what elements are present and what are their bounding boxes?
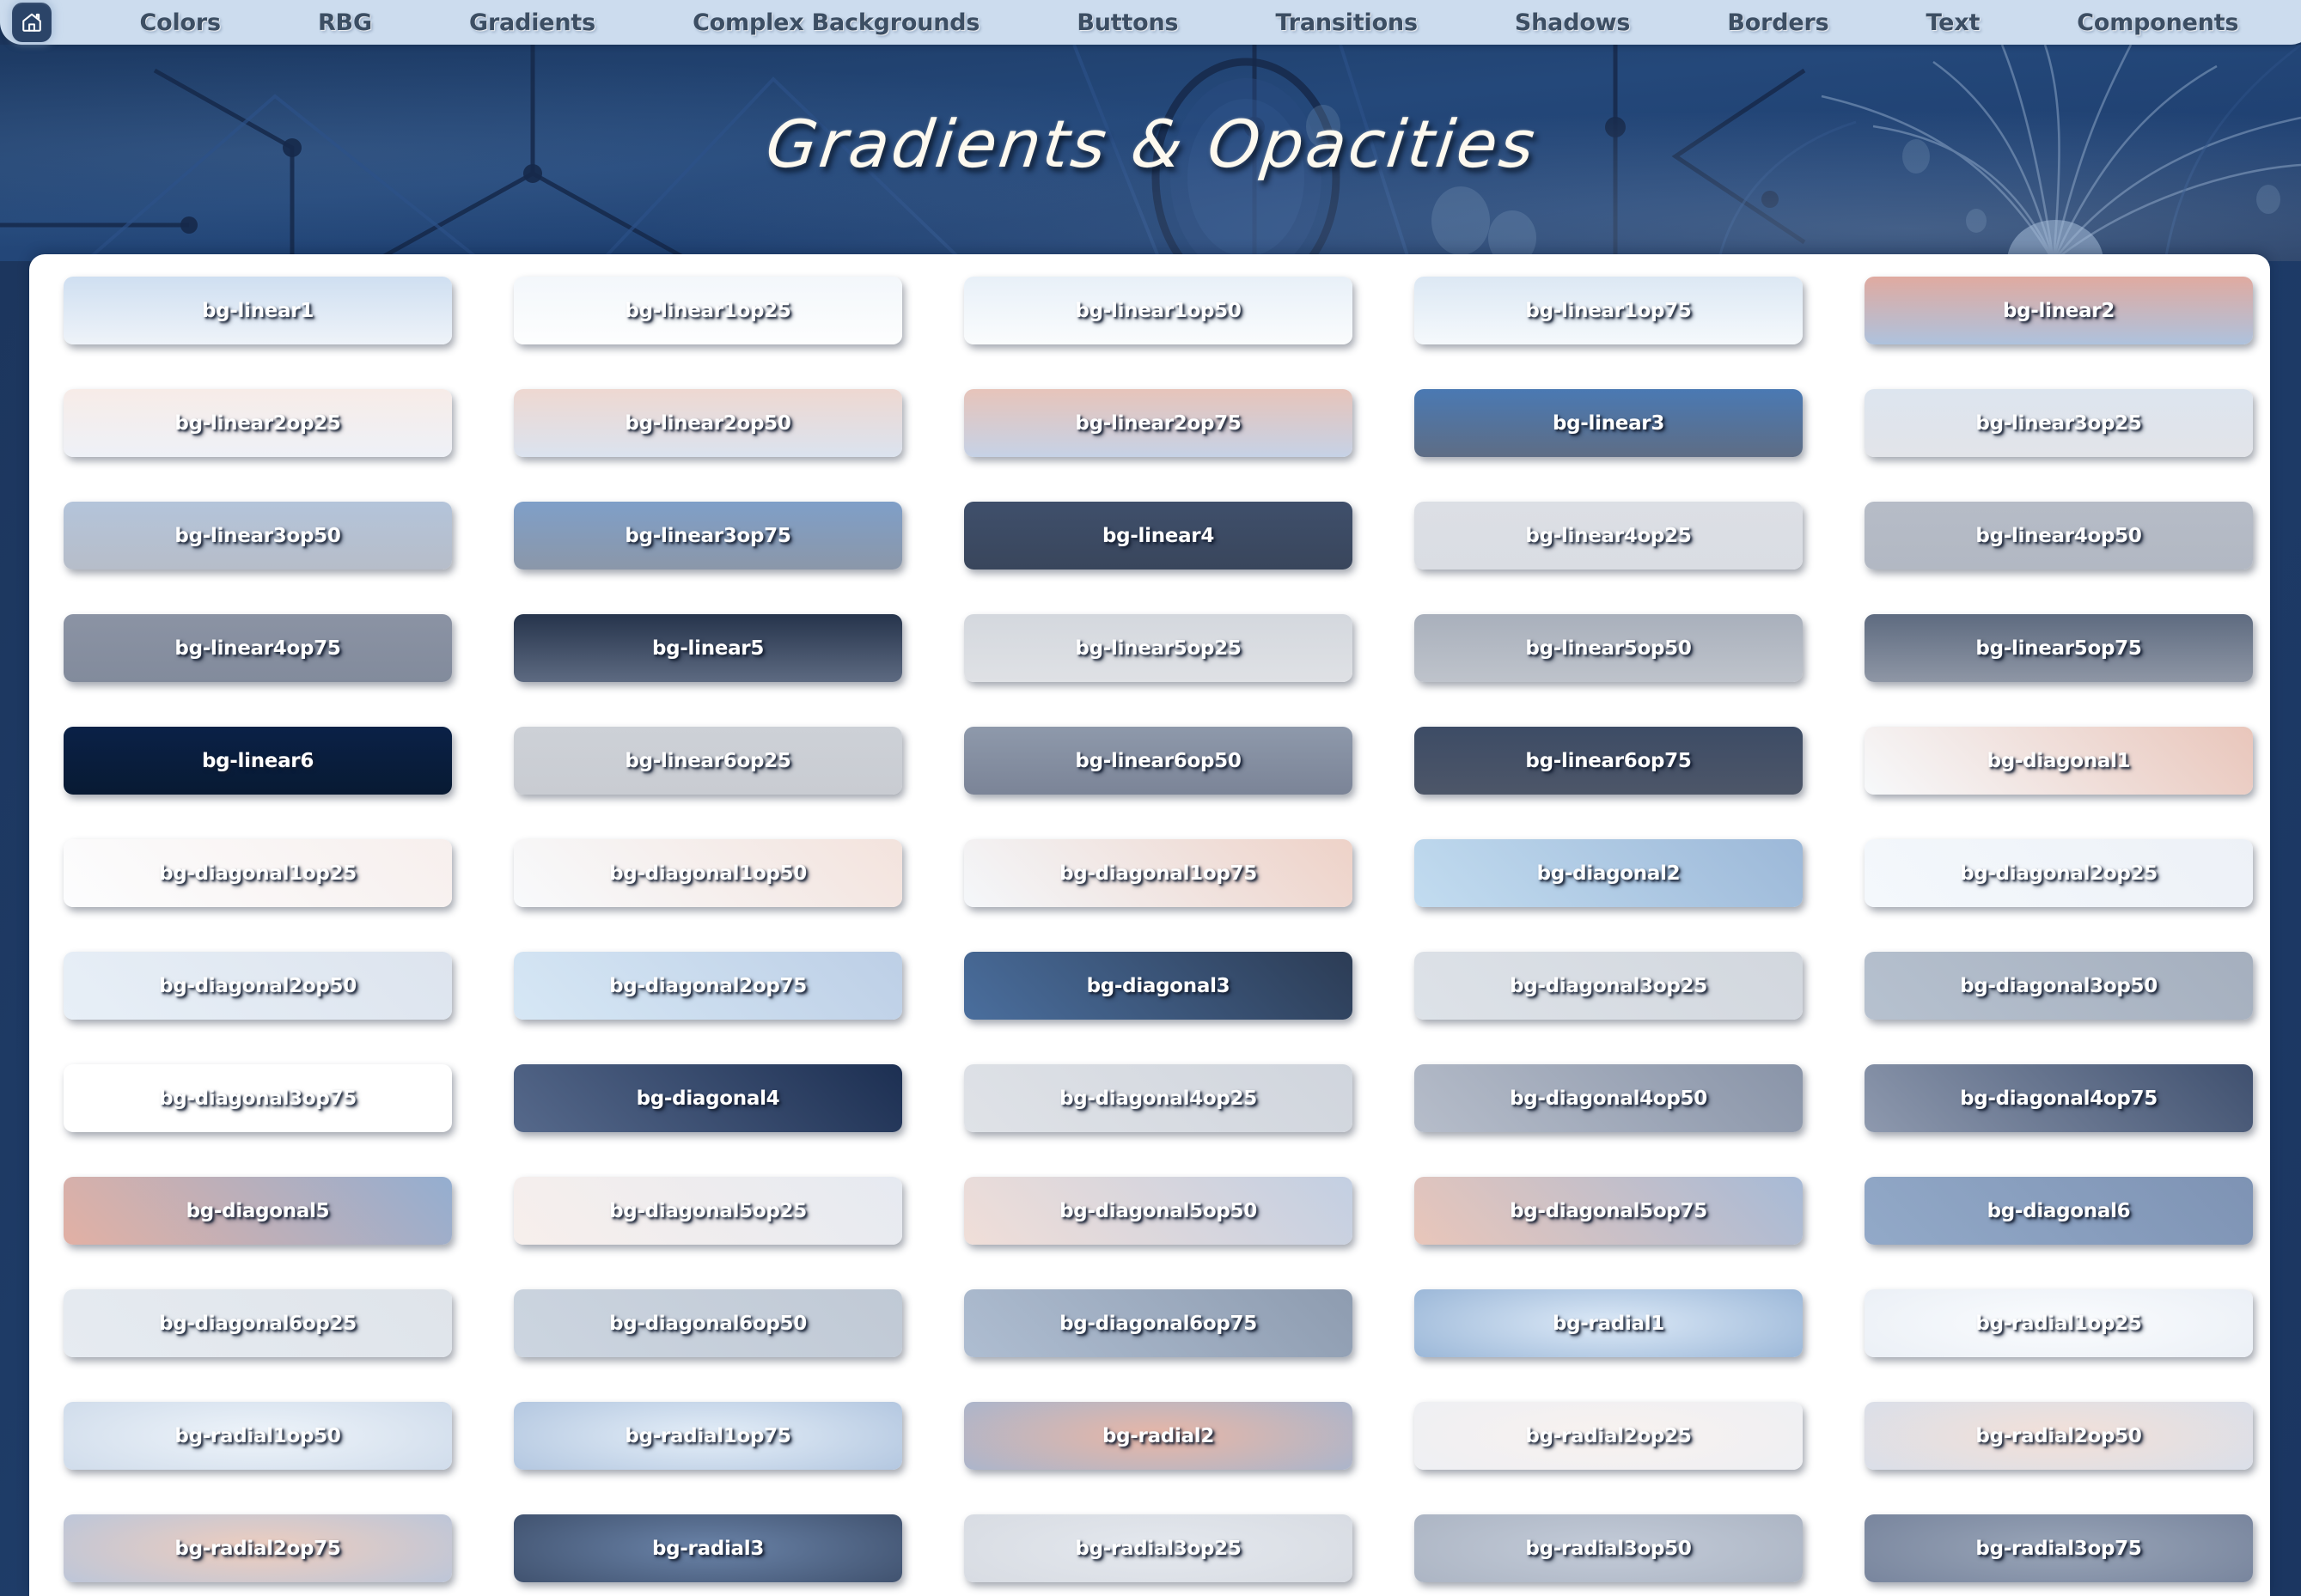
nav-item-borders[interactable]: Borders	[1727, 9, 1828, 36]
gradient-swatch-label: bg-diagonal4	[637, 1087, 780, 1110]
gradient-swatch[interactable]: bg-radial2op75	[64, 1514, 452, 1582]
gradient-swatch-label: bg-diagonal6	[1987, 1200, 2131, 1222]
gradient-swatch[interactable]: bg-linear6op75	[1414, 727, 1803, 795]
gradient-swatch-label: bg-linear3op50	[174, 525, 340, 547]
gradient-swatch-label: bg-diagonal2op50	[159, 975, 357, 997]
gradient-swatch[interactable]: bg-linear6op25	[514, 727, 902, 795]
gradient-swatch[interactable]: bg-diagonal3op25	[1414, 952, 1803, 1020]
gradient-swatch[interactable]: bg-radial2op25	[1414, 1402, 1803, 1470]
nav-item-text[interactable]: Text	[1926, 9, 1981, 36]
gradient-swatch-label: bg-diagonal6op25	[159, 1313, 357, 1335]
gradient-swatch-label: bg-diagonal2op75	[609, 975, 807, 997]
gradient-swatch[interactable]: bg-diagonal6op75	[964, 1289, 1352, 1357]
gradient-swatch-grid: bg-linear1bg-linear1op25bg-linear1op50bg…	[29, 254, 2270, 1582]
gradient-swatch-label: bg-diagonal3op75	[159, 1087, 357, 1110]
gradient-swatch-label: bg-diagonal2op25	[1960, 862, 2158, 885]
gradient-swatch[interactable]: bg-diagonal3	[964, 952, 1352, 1020]
gradient-swatch-label: bg-linear5op25	[1075, 637, 1241, 660]
gradient-swatch[interactable]: bg-linear1op75	[1414, 277, 1803, 344]
gradient-swatch[interactable]: bg-diagonal5op25	[514, 1177, 902, 1245]
home-icon	[21, 11, 43, 34]
gradient-swatch-label: bg-diagonal4op25	[1059, 1087, 1257, 1110]
gradient-swatch[interactable]: bg-linear4	[964, 502, 1352, 570]
nav-item-buttons[interactable]: Buttons	[1077, 9, 1178, 36]
gradient-swatch-label: bg-linear2op50	[625, 412, 790, 435]
gradient-swatch[interactable]: bg-radial1	[1414, 1289, 1803, 1357]
gradient-swatch[interactable]: bg-linear4op75	[64, 614, 452, 682]
gradient-swatch[interactable]: bg-radial1op50	[64, 1402, 452, 1470]
gradient-swatch-label: bg-linear6op50	[1075, 750, 1241, 772]
gradient-swatch-label: bg-diagonal5op25	[609, 1200, 807, 1222]
gradient-swatch-label: bg-diagonal1op75	[1059, 862, 1257, 885]
gradient-swatch[interactable]: bg-linear3op50	[64, 502, 452, 570]
gradient-swatch[interactable]: bg-linear5op25	[964, 614, 1352, 682]
gradient-swatch-label: bg-diagonal4op75	[1960, 1087, 2158, 1110]
gradient-swatch-label: bg-diagonal5	[186, 1200, 330, 1222]
page-banner: Gradients & Opacities	[0, 45, 2301, 261]
gradient-swatch[interactable]: bg-diagonal4	[514, 1064, 902, 1132]
gradient-swatch-label: bg-diagonal6op75	[1059, 1313, 1257, 1335]
nav-item-shadows[interactable]: Shadows	[1515, 9, 1630, 36]
gradient-swatch-label: bg-radial1	[1553, 1313, 1664, 1335]
gradient-swatch-label: bg-radial2op25	[1525, 1425, 1691, 1447]
gradient-swatch[interactable]: bg-linear6	[64, 727, 452, 795]
gradient-swatch-label: bg-radial1op25	[1975, 1313, 2141, 1335]
gradient-swatch[interactable]: bg-diagonal5op50	[964, 1177, 1352, 1245]
gradient-swatch-label: bg-radial2op50	[1975, 1425, 2141, 1447]
gradient-swatch[interactable]: bg-diagonal1	[1865, 727, 2253, 795]
gradient-swatch[interactable]: bg-linear2op50	[514, 389, 902, 457]
gradient-swatch[interactable]: bg-radial1op25	[1865, 1289, 2253, 1357]
content-panel: bg-linear1bg-linear1op25bg-linear1op50bg…	[29, 254, 2270, 1596]
gradient-swatch[interactable]: bg-linear5op50	[1414, 614, 1803, 682]
gradient-swatch[interactable]: bg-diagonal2op75	[514, 952, 902, 1020]
gradient-swatch-label: bg-radial3op75	[1975, 1538, 2141, 1560]
gradient-swatch-label: bg-radial3op50	[1525, 1538, 1691, 1560]
gradient-swatch[interactable]: bg-diagonal4op75	[1865, 1064, 2253, 1132]
gradient-swatch-label: bg-linear4	[1102, 525, 1214, 547]
gradient-swatch[interactable]: bg-radial2	[964, 1402, 1352, 1470]
gradient-swatch-label: bg-diagonal1	[1987, 750, 2131, 772]
gradient-swatch[interactable]: bg-radial3	[514, 1514, 902, 1582]
gradient-swatch-label: bg-linear2op25	[174, 412, 340, 435]
gradient-swatch-label: bg-diagonal5op75	[1510, 1200, 1707, 1222]
gradient-swatch[interactable]: bg-diagonal6	[1865, 1177, 2253, 1245]
nav-item-components[interactable]: Components	[2077, 9, 2238, 36]
gradient-swatch-label: bg-linear4op75	[174, 637, 340, 660]
gradient-swatch[interactable]: bg-diagonal1op75	[964, 839, 1352, 907]
gradient-swatch-label: bg-radial3op25	[1075, 1538, 1241, 1560]
gradient-swatch-label: bg-linear3op25	[1975, 412, 2141, 435]
gradient-swatch[interactable]: bg-diagonal3op75	[64, 1064, 452, 1132]
gradient-swatch[interactable]: bg-linear5	[514, 614, 902, 682]
gradient-swatch[interactable]: bg-diagonal3op50	[1865, 952, 2253, 1020]
gradient-swatch-label: bg-linear2	[2003, 300, 2115, 322]
gradient-swatch[interactable]: bg-linear5op75	[1865, 614, 2253, 682]
app-root: Gradients & Opacities bg-linear1bg-linea…	[0, 0, 2301, 1596]
gradient-swatch-label: bg-diagonal3op25	[1510, 975, 1707, 997]
gradient-swatch[interactable]: bg-linear2op75	[964, 389, 1352, 457]
gradient-swatch[interactable]: bg-linear3op75	[514, 502, 902, 570]
nav-item-complex-backgrounds[interactable]: Complex Backgrounds	[693, 9, 980, 36]
gradient-swatch[interactable]: bg-radial2op50	[1865, 1402, 2253, 1470]
gradient-swatch-label: bg-radial2	[1102, 1425, 1214, 1447]
gradient-swatch-label: bg-linear6op25	[625, 750, 790, 772]
gradient-swatch[interactable]: bg-diagonal1op50	[514, 839, 902, 907]
top-navigation-bar: ColorsRBGGradientsComplex BackgroundsBut…	[0, 0, 2301, 45]
gradient-swatch[interactable]: bg-diagonal6op50	[514, 1289, 902, 1357]
nav-item-gradients[interactable]: Gradients	[469, 9, 595, 36]
gradient-swatch[interactable]: bg-diagonal5op75	[1414, 1177, 1803, 1245]
nav-item-rbg[interactable]: RBG	[318, 9, 372, 36]
gradient-swatch-label: bg-linear1op25	[625, 300, 790, 322]
gradient-swatch-label: bg-diagonal3op50	[1960, 975, 2158, 997]
home-button[interactable]	[12, 3, 52, 42]
gradient-swatch[interactable]: bg-linear3	[1414, 389, 1803, 457]
gradient-swatch-label: bg-diagonal1op50	[609, 862, 807, 885]
gradient-swatch-label: bg-linear1op50	[1075, 300, 1241, 322]
gradient-swatch[interactable]: bg-radial3op75	[1865, 1514, 2253, 1582]
gradient-swatch-label: bg-linear4op25	[1525, 525, 1691, 547]
gradient-swatch-label: bg-linear2op75	[1075, 412, 1241, 435]
gradient-swatch[interactable]: bg-radial1op75	[514, 1402, 902, 1470]
gradient-swatch-label: bg-linear6	[202, 750, 314, 772]
page-title: Gradients & Opacities	[0, 45, 2301, 261]
gradient-swatch[interactable]: bg-diagonal2	[1414, 839, 1803, 907]
gradient-swatch-label: bg-linear1op75	[1525, 300, 1691, 322]
nav-item-transitions[interactable]: Transitions	[1275, 9, 1417, 36]
gradient-swatch-label: bg-diagonal5op50	[1059, 1200, 1257, 1222]
gradient-swatch-label: bg-radial2op75	[174, 1538, 340, 1560]
gradient-swatch[interactable]: bg-diagonal4op25	[964, 1064, 1352, 1132]
gradient-swatch[interactable]: bg-diagonal5	[64, 1177, 452, 1245]
gradient-swatch-label: bg-radial3	[652, 1538, 764, 1560]
gradient-swatch-label: bg-linear3	[1553, 412, 1664, 435]
gradient-swatch[interactable]: bg-diagonal2op50	[64, 952, 452, 1020]
nav-item-colors[interactable]: Colors	[140, 9, 221, 36]
gradient-swatch-label: bg-diagonal1op25	[159, 862, 357, 885]
gradient-swatch-label: bg-linear5op50	[1525, 637, 1691, 660]
gradient-swatch[interactable]: bg-linear6op50	[964, 727, 1352, 795]
gradient-swatch[interactable]: bg-linear1op25	[514, 277, 902, 344]
gradient-swatch-label: bg-linear4op50	[1975, 525, 2141, 547]
gradient-swatch-label: bg-diagonal6op50	[609, 1313, 807, 1335]
gradient-swatch-label: bg-diagonal4op50	[1510, 1087, 1707, 1110]
gradient-swatch[interactable]: bg-linear4op25	[1414, 502, 1803, 570]
gradient-swatch-label: bg-diagonal3	[1087, 975, 1230, 997]
nav-links: ColorsRBGGradientsComplex BackgroundsBut…	[52, 0, 2301, 45]
gradient-swatch[interactable]: bg-diagonal2op25	[1865, 839, 2253, 907]
gradient-swatch[interactable]: bg-radial3op25	[964, 1514, 1352, 1582]
gradient-swatch-label: bg-linear5op75	[1975, 637, 2141, 660]
gradient-swatch-label: bg-radial1op50	[174, 1425, 340, 1447]
gradient-swatch-label: bg-linear3op75	[625, 525, 790, 547]
gradient-swatch-label: bg-radial1op75	[625, 1425, 790, 1447]
gradient-swatch-label: bg-linear5	[652, 637, 764, 660]
gradient-swatch[interactable]: bg-linear1	[64, 277, 452, 344]
gradient-swatch-label: bg-linear1	[202, 300, 314, 322]
gradient-swatch[interactable]: bg-diagonal6op25	[64, 1289, 452, 1357]
gradient-swatch[interactable]: bg-diagonal1op25	[64, 839, 452, 907]
gradient-swatch[interactable]: bg-radial3op50	[1414, 1514, 1803, 1582]
gradient-swatch[interactable]: bg-diagonal4op50	[1414, 1064, 1803, 1132]
gradient-swatch[interactable]: bg-linear3op25	[1865, 389, 2253, 457]
gradient-swatch[interactable]: bg-linear1op50	[964, 277, 1352, 344]
gradient-swatch-label: bg-diagonal2	[1537, 862, 1681, 885]
gradient-swatch-label: bg-linear6op75	[1525, 750, 1691, 772]
gradient-swatch[interactable]: bg-linear4op50	[1865, 502, 2253, 570]
gradient-swatch[interactable]: bg-linear2	[1865, 277, 2253, 344]
gradient-swatch[interactable]: bg-linear2op25	[64, 389, 452, 457]
